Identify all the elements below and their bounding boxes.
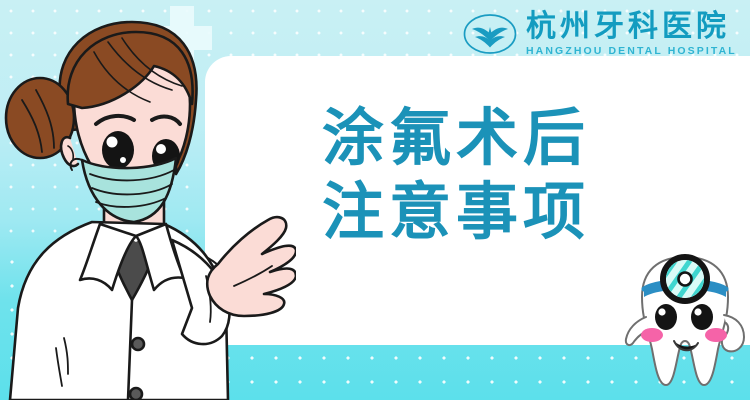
headline-line-1: 涂氟术后 (322, 106, 590, 170)
hangzhou-dental-oval-emblem-icon (462, 12, 518, 56)
female-dentist-illustration (0, 8, 296, 400)
headline-line-2: 注意事项 (322, 180, 590, 244)
tooth-mascot-illustration (624, 243, 746, 395)
logo-chinese-name: 杭州牙科医院 (526, 12, 737, 42)
hospital-logo: 杭州牙科医院 HANGZHOU DENTAL HOSPITAL (462, 12, 737, 57)
dental-promo-banner: 杭州牙科医院 HANGZHOU DENTAL HOSPITAL 涂氟术后 注意事… (0, 0, 750, 400)
logo-english-name: HANGZHOU DENTAL HOSPITAL (526, 46, 737, 57)
headline-block: 涂氟术后 注意事项 (322, 106, 590, 244)
